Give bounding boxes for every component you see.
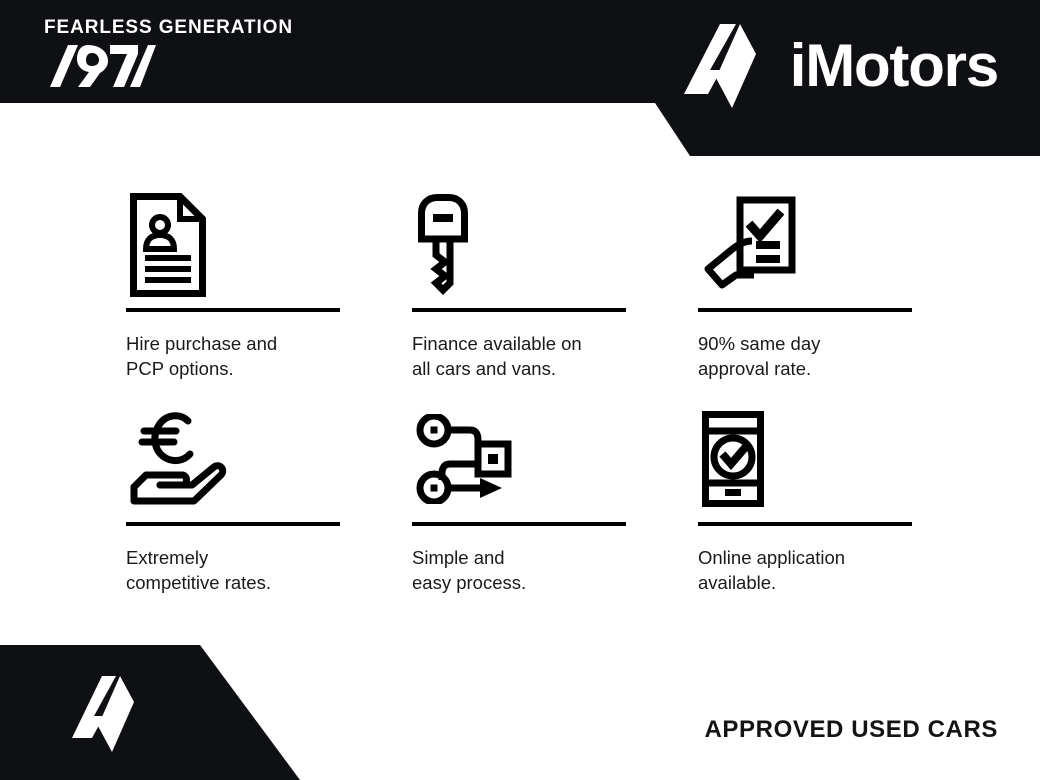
brand-name: iMotors [790, 36, 998, 96]
cell-divider [698, 308, 912, 312]
feature-label: Simple and easy process. [412, 546, 626, 596]
feature-grid: Hire purchase and PCP options. Finance a… [126, 190, 916, 596]
cell-divider [412, 308, 626, 312]
feature-label: 90% same day approval rate. [698, 332, 912, 382]
footer-imotors-chevron-mark-icon [72, 672, 150, 758]
smartphone-check-icon [698, 404, 912, 514]
document-person-icon [126, 190, 340, 300]
feature-label: Finance available on all cars and vans. [412, 332, 626, 382]
feature-cell-finance-available: Finance available on all cars and vans. [412, 190, 626, 382]
brand-lockup: iMotors [684, 18, 998, 114]
process-flow-icon [412, 404, 626, 514]
feature-cell-competitive-rates: Extremely competitive rates. [126, 404, 340, 596]
1971-stylized-logo-icon [44, 43, 156, 87]
car-key-icon [412, 190, 626, 300]
feature-label: Extremely competitive rates. [126, 546, 340, 596]
footer-angled-block [0, 645, 310, 780]
fearless-generation-tagline: FEARLESS GENERATION [44, 18, 344, 37]
feature-label: Online application available. [698, 546, 912, 596]
feature-row-2: Extremely competitive rates. [126, 404, 916, 596]
cell-divider [126, 308, 340, 312]
feature-cell-simple-process: Simple and easy process. [412, 404, 626, 596]
feature-label: Hire purchase and PCP options. [126, 332, 340, 382]
feature-row-1: Hire purchase and PCP options. Finance a… [126, 190, 916, 382]
approved-used-cars-tagline: APPROVED USED CARS [704, 716, 998, 744]
imotors-chevron-mark-icon [684, 18, 776, 114]
feature-cell-online-application: Online application available. [698, 404, 912, 596]
cell-divider [412, 522, 626, 526]
euro-in-hand-icon [126, 404, 340, 514]
feature-cell-same-day-approval: 90% same day approval rate. [698, 190, 912, 382]
promo-banner: FEARLESS GENERATION [0, 0, 1040, 780]
hand-holding-checklist-icon [698, 190, 912, 300]
feature-cell-hire-purchase: Hire purchase and PCP options. [126, 190, 340, 382]
cell-divider [698, 522, 912, 526]
cell-divider [126, 522, 340, 526]
header-left-group: FEARLESS GENERATION [44, 18, 344, 87]
